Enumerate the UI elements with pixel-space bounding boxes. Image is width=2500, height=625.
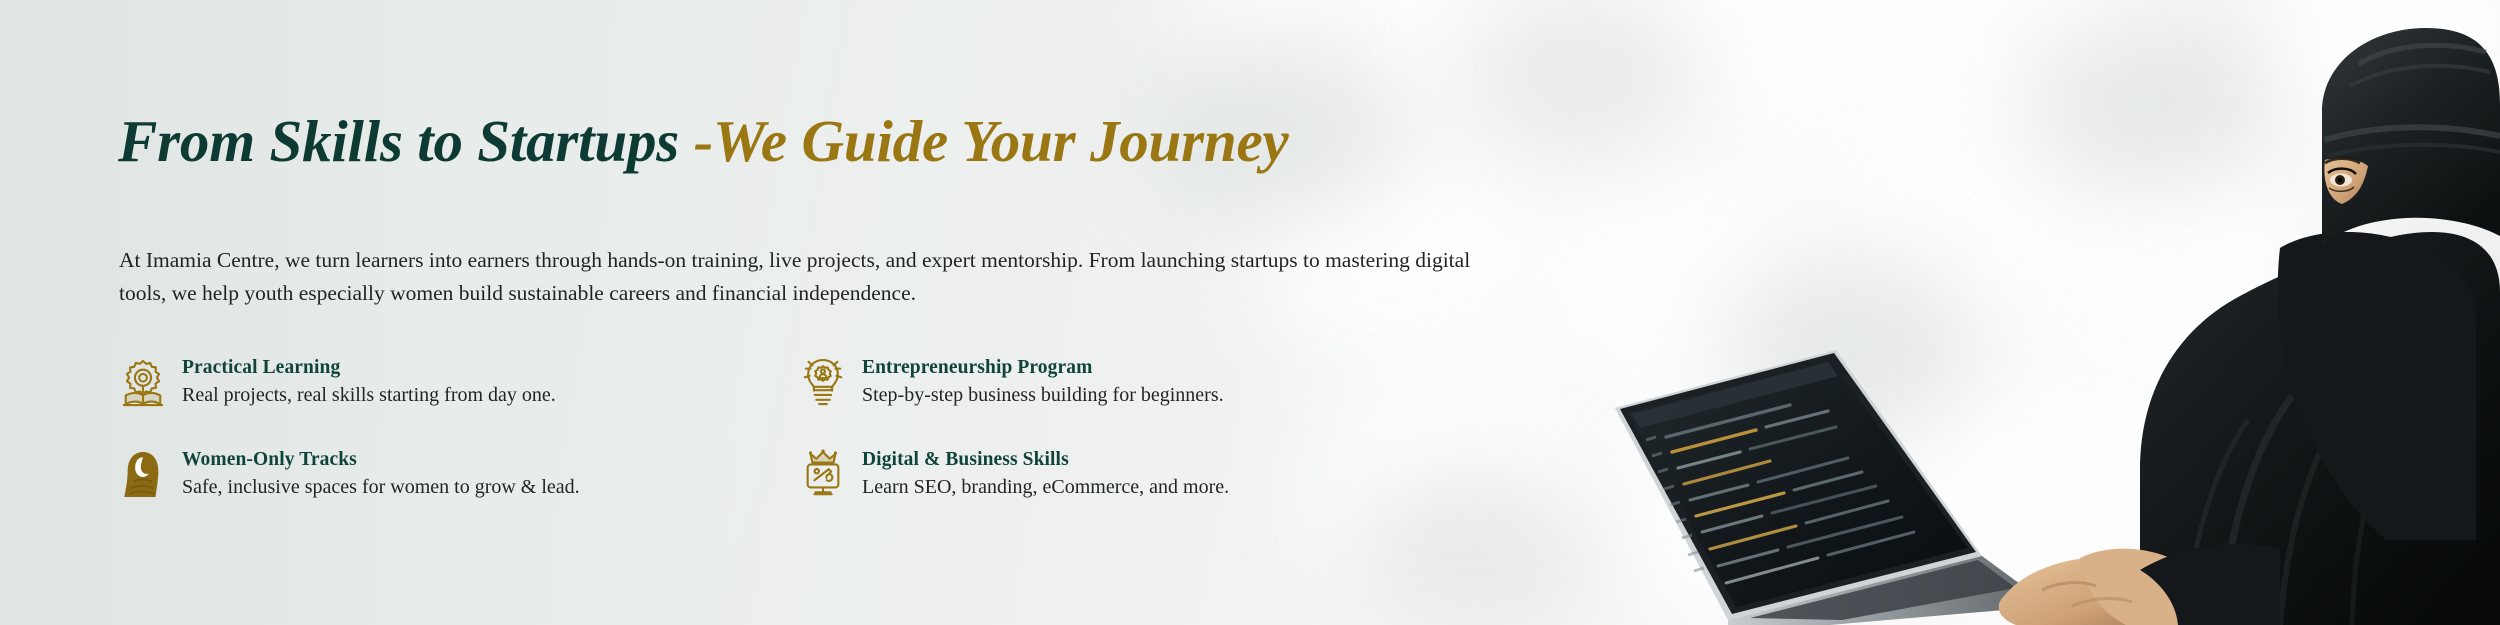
page-title: From Skills to Startups -We Guide Your J…: [118, 109, 1289, 174]
feature-item-entrepreneurship-program: Entrepreneurship Program Step-by-step bu…: [800, 355, 1440, 429]
lightbulb-gear-person-icon: [800, 357, 846, 409]
hero-photo: [1580, 0, 2500, 625]
figure-hands: [1999, 544, 2280, 625]
hijab-woman-icon: [120, 449, 166, 501]
headline-primary: From Skills to Startups: [118, 108, 694, 174]
feature-text: Digital & Business Skills Learn SEO, bra…: [862, 447, 1229, 501]
feature-title: Digital & Business Skills: [862, 449, 1069, 470]
gear-book-icon: [120, 357, 166, 409]
hero-description: At Imamia Centre, we turn learners into …: [119, 244, 1509, 309]
monitor-crown-tools-icon: [800, 449, 846, 501]
feature-description: Safe, inclusive spaces for women to grow…: [182, 474, 580, 501]
feature-item-digital-business-skills: Digital & Business Skills Learn SEO, bra…: [800, 447, 1440, 521]
feature-title: Practical Learning: [182, 357, 340, 378]
headline-accent: -We Guide Your Journey: [694, 108, 1289, 174]
feature-list: Practical Learning Real projects, real s…: [120, 355, 1440, 521]
feature-text: Practical Learning Real projects, real s…: [182, 355, 556, 409]
feature-text: Entrepreneurship Program Step-by-step bu…: [862, 355, 1224, 409]
feature-title: Entrepreneurship Program: [862, 357, 1092, 378]
laptop: [1615, 350, 2050, 625]
feature-text: Women-Only Tracks Safe, inclusive spaces…: [182, 447, 580, 501]
feature-description: Learn SEO, branding, eCommerce, and more…: [862, 474, 1229, 501]
feature-item-women-only-tracks: Women-Only Tracks Safe, inclusive spaces…: [120, 447, 800, 521]
feature-description: Real projects, real skills starting from…: [182, 382, 556, 409]
feature-description: Step-by-step business building for begin…: [862, 382, 1224, 409]
feature-item-practical-learning: Practical Learning Real projects, real s…: [120, 355, 800, 429]
feature-title: Women-Only Tracks: [182, 449, 357, 470]
hero-content: From Skills to Startups -We Guide Your J…: [118, 0, 1498, 625]
hero-banner: From Skills to Startups -We Guide Your J…: [0, 0, 2500, 625]
